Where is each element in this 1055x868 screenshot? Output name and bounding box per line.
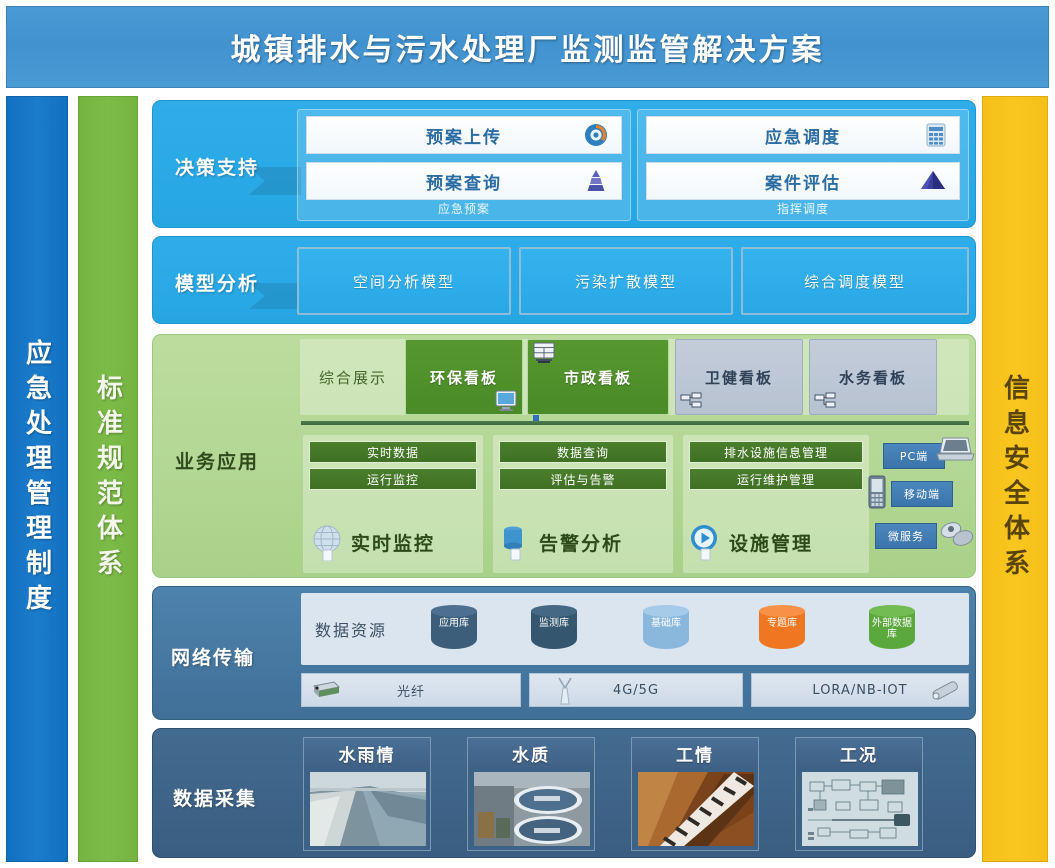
layer-model-analysis: 模型分析 空间分析模型 污染扩散模型 综合调度模型 [152,236,976,324]
business-column-query: 数据查询 评估与告警 告警分析 [493,435,673,573]
decision-group-caption: 应急预案 [298,200,630,217]
decision-item-label: 应急调度 [765,123,841,148]
sedimentation-tanks-photo [474,772,590,846]
device-button-mobile[interactable]: 移动端 [891,481,953,507]
decision-item-label: 预案查询 [426,169,502,194]
network-icon [814,392,836,412]
board-municipal[interactable]: 市政看板 [527,339,669,415]
data-resource-panel: 数据资源 应用库 监测库 基础库 专题库 [301,593,969,665]
play-circle-icon [689,523,723,561]
business-chip[interactable]: 实时数据 [309,441,477,463]
sidebar-emergency-management-system[interactable]: 应急处理管理制度 [6,96,68,862]
antenna-icon [554,676,576,706]
globe-icon [309,523,345,561]
sidebar-information-security-system[interactable]: 信息安全体系 [982,96,1048,862]
business-feature-label: 设施管理 [729,529,813,556]
business-chip[interactable]: 评估与告警 [499,468,667,490]
pipeline-trench-photo [638,772,754,846]
layer-network-transmission: 网络传输 数据资源 应用库 监测库 基础库 专题库 [152,586,976,720]
network-icon [680,392,702,412]
board-label: 环保看板 [430,367,498,388]
business-chip[interactable]: 运行监控 [309,468,477,490]
decision-group-command-dispatch: 应急调度 案件评估 [637,109,969,221]
window-icon [532,342,556,364]
model-box-integrated-dispatch[interactable]: 综合调度模型 [741,247,969,315]
section-divider [301,421,969,425]
decision-group-emergency-plan: 预案上传 预案查询 [297,109,631,221]
business-column-realtime: 实时数据 运行监控 实时监控 [303,435,483,573]
business-chip[interactable]: 运行维护管理 [689,468,863,490]
device-icon [939,519,975,549]
network-channel-label: LORA/NB-IOT [812,683,907,698]
data-card-title: 工况 [796,738,922,768]
network-channel-fiber[interactable]: 光纤 [301,673,521,707]
cylinder-top [431,605,477,617]
network-channel-label: 4G/5G [613,683,659,698]
business-feature-facility-management[interactable]: 设施管理 [689,523,813,561]
architecture-stack: 决策支持 预案上传 预案查询 [152,96,976,862]
database-thematic[interactable]: 专题库 [759,605,805,653]
business-chip-label: 运行维护管理 [737,471,815,488]
sensor-icon [928,676,962,704]
model-box-pollution-diffusion[interactable]: 污染扩散模型 [519,247,733,315]
board-health[interactable]: 卫健看板 [675,339,803,415]
device-button-microservice[interactable]: 微服务 [875,523,937,549]
business-feature-label: 实时监控 [351,529,435,556]
board-label: 卫健看板 [705,367,773,388]
data-card-title: 水雨情 [304,738,430,768]
plan-upload-icon [583,122,609,148]
device-label: 微服务 [888,528,924,544]
network-channel-lora[interactable]: LORA/NB-IOT [751,673,969,707]
model-box-label: 污染扩散模型 [575,271,677,292]
business-column-facility: 排水设施信息管理 运行维护管理 设施管理 [683,435,869,573]
decision-group-caption: 指挥调度 [638,200,968,217]
data-card-works[interactable]: 工情 [631,737,759,851]
fiber-switch-icon [310,678,340,702]
decision-item-plan-upload[interactable]: 预案上传 [306,116,622,154]
device-label: PC端 [900,448,928,464]
decision-item-label: 预案上传 [426,123,502,148]
business-chip-label: 排水设施信息管理 [724,444,828,461]
cylinder-top [759,605,805,617]
decision-item-emergency-dispatch[interactable]: 应急调度 [646,116,960,154]
business-chip[interactable]: 排水设施信息管理 [689,441,863,463]
database-basic[interactable]: 基础库 [643,605,689,653]
sidebar-label: 应急处理管理制度 [19,339,56,619]
model-box-spatial-analysis[interactable]: 空间分析模型 [297,247,511,315]
display-label: 综合展示 [303,339,403,415]
data-resource-label: 数据资源 [315,617,387,641]
business-feature-realtime-monitoring[interactable]: 实时监控 [309,523,435,561]
business-feature-alarm-analysis[interactable]: 告警分析 [499,523,623,561]
business-chip-label: 实时数据 [367,444,419,461]
database-monitoring[interactable]: 监测库 [531,605,577,653]
database-icon [499,523,533,561]
scada-diagram-photo [802,772,918,846]
model-box-label: 空间分析模型 [353,271,455,292]
layer-business-application: 业务应用 综合展示 环保看板 市政看板 [152,334,976,578]
page-header: 城镇排水与污水处理厂监测监管解决方案 [6,6,1049,88]
sidebar-standards-specification-system[interactable]: 标准规范体系 [78,96,138,862]
database-label: 外部数据库 [869,618,915,640]
database-app[interactable]: 应用库 [431,605,477,653]
grid-table-icon [925,123,947,147]
database-label: 监测库 [531,618,577,629]
business-chip[interactable]: 数据查询 [499,441,667,463]
data-card-rainfall[interactable]: 水雨情 [303,737,431,851]
decision-item-label: 案件评估 [765,169,841,194]
sidebar-label: 标准规范体系 [90,374,127,584]
network-channel-label: 光纤 [397,681,425,700]
database-label: 基础库 [643,618,689,629]
arrow-shadow [249,167,301,195]
data-card-conditions[interactable]: 工况 [795,737,923,851]
board-water-affairs[interactable]: 水务看板 [809,339,937,415]
board-environment[interactable]: 环保看板 [405,339,523,415]
network-channel-cellular[interactable]: 4G/5G [529,673,743,707]
arrow-shadow [249,283,301,309]
layer-label-decision-support: 决策支持 [175,153,259,180]
pyramid-3d-icon [919,169,947,193]
database-label: 应用库 [431,618,477,629]
layer-label-data-collection: 数据采集 [173,784,257,811]
divider-marker [533,415,539,421]
business-chip-label: 数据查询 [557,444,609,461]
cylinder-top [531,605,577,617]
layer-label-network-transmission: 网络传输 [171,643,255,670]
decision-item-case-assessment[interactable]: 案件评估 [646,162,960,200]
data-card-title: 工情 [632,738,758,768]
page-title: 城镇排水与污水处理厂监测监管解决方案 [231,25,825,69]
river-channel-photo [310,772,426,846]
cylinder-top [869,605,915,617]
pyramid-chart-icon [583,169,609,193]
monitor-icon [494,388,518,412]
decision-item-plan-query[interactable]: 预案查询 [306,162,622,200]
mobile-phone-icon [865,475,889,509]
model-box-label: 综合调度模型 [804,271,906,292]
layer-label-business-application: 业务应用 [175,447,259,474]
layer-data-collection: 数据采集 水雨情 水质 [152,728,976,858]
layer-label-model-analysis: 模型分析 [175,269,259,296]
business-chip-label: 运行监控 [367,471,419,488]
device-label: 移动端 [904,486,940,502]
business-chip-label: 评估与告警 [550,471,615,488]
sidebar-label: 信息安全体系 [997,374,1034,584]
board-label: 市政看板 [564,367,632,388]
layer-decision-support: 决策支持 预案上传 预案查询 [152,100,976,228]
cylinder-top [643,605,689,617]
database-external[interactable]: 外部数据库 [869,605,915,653]
business-feature-label: 告警分析 [539,529,623,556]
board-label: 水务看板 [839,367,907,388]
laptop-icon [935,435,975,465]
data-card-title: 水质 [468,738,594,768]
data-card-water-quality[interactable]: 水质 [467,737,595,851]
database-label: 专题库 [759,618,805,629]
